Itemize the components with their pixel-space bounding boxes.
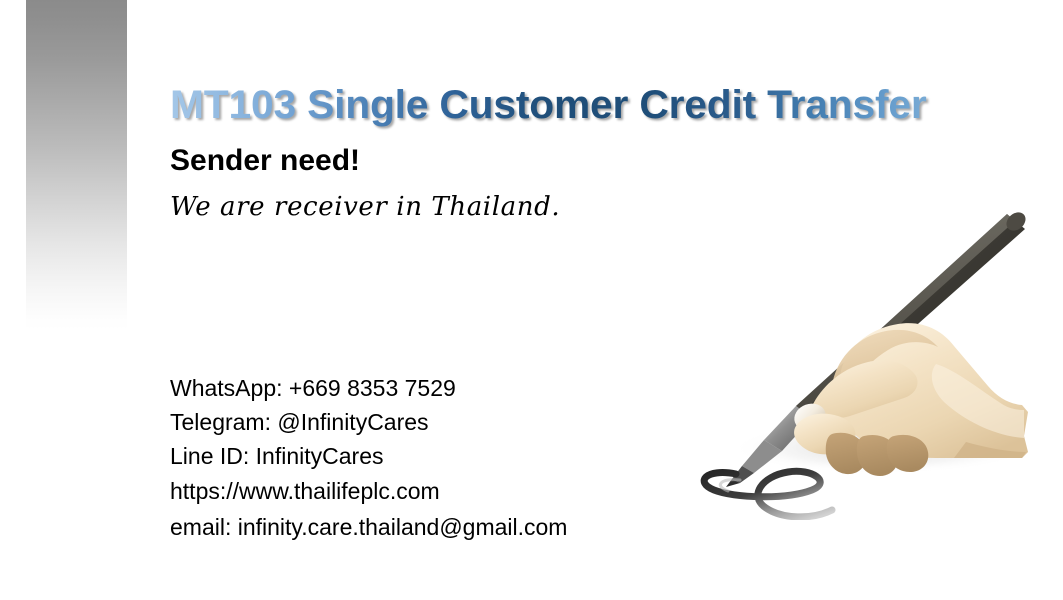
contact-email[interactable]: email: infinity.care.thailand@gmail.com (170, 509, 567, 545)
section-heading: Sender need! (170, 144, 360, 178)
contact-whatsapp: WhatsApp: +669 8353 7529 (170, 371, 567, 405)
contact-list: WhatsApp: +669 8353 7529 Telegram: @Infi… (170, 371, 567, 545)
contact-website[interactable]: https://www.thailifeplc.com (170, 473, 567, 509)
contact-line-id: Line ID: InfinityCares (170, 439, 567, 473)
slide-canvas: MT103 Single Customer Credit Transfer Se… (0, 0, 1063, 600)
left-gradient-band (26, 0, 127, 330)
hand-writing-with-pen-icon (636, 190, 1036, 520)
signature-squiggle (704, 471, 832, 517)
contact-telegram: Telegram: @InfinityCares (170, 405, 567, 439)
script-subtitle: We are receiver in Thailand. (170, 192, 560, 222)
page-title: MT103 Single Customer Credit Transfer (170, 82, 1022, 128)
